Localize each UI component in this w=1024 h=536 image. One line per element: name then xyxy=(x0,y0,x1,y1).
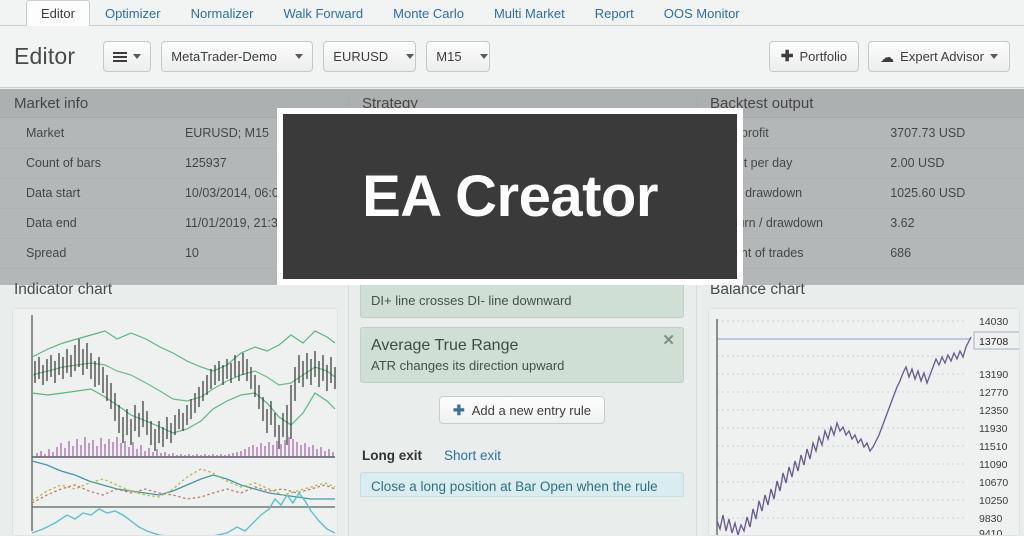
tab-label: Optimizer xyxy=(105,6,161,21)
balance-current-value: 13708 xyxy=(979,336,1008,348)
tab-optimizer[interactable]: Optimizer xyxy=(90,0,176,25)
tab-label: Report xyxy=(595,6,634,21)
table-row: Max drawdown 1025.60 USD xyxy=(696,178,1024,208)
y-tick-label: 12770 xyxy=(979,387,1008,399)
timeframe-select[interactable]: M15 xyxy=(426,41,490,72)
row-label: Market xyxy=(0,118,181,148)
broker-select[interactable]: MetaTrader-Demo xyxy=(161,41,313,72)
y-tick-label: 12350 xyxy=(979,405,1008,417)
add-entry-rule-wrap: ✚ Add a new entry rule xyxy=(360,396,684,424)
plus-icon: ✚ xyxy=(453,403,465,417)
main-menu-button[interactable] xyxy=(103,41,151,72)
close-icon[interactable]: ✕ xyxy=(662,333,675,348)
broker-select-value: MetaTrader-Demo xyxy=(171,49,295,64)
portfolio-button[interactable]: ✚ Portfolio xyxy=(769,41,859,72)
add-entry-rule-label: Add a new entry rule xyxy=(472,403,591,418)
table-row: Count of trades 686 xyxy=(696,238,1024,268)
row-value: 686 xyxy=(886,238,1024,268)
y-tick-label: 14030 xyxy=(979,316,1008,328)
tab-label: OOS Monitor xyxy=(664,6,740,21)
cloud-download-icon: ☁ xyxy=(880,50,894,64)
expert-advisor-button[interactable]: ☁ Expert Advisor xyxy=(868,41,1010,72)
tab-label: Normalizer xyxy=(191,6,254,21)
entry-rule-card[interactable]: ✕ Average True Range ATR changes its dir… xyxy=(360,327,684,383)
table-row: Net profit 3707.73 USD xyxy=(696,118,1024,148)
tab-oos-monitor[interactable]: OOS Monitor xyxy=(649,0,755,25)
y-tick-label: 9830 xyxy=(979,513,1003,525)
backtest-output-table: Net profit 3707.73 USD Profit per day 2.… xyxy=(696,118,1024,269)
tab-normalizer[interactable]: Normalizer xyxy=(176,0,269,25)
y-tick-label: 10670 xyxy=(979,477,1008,489)
portfolio-button-label: Portfolio xyxy=(799,49,847,64)
chevron-down-icon xyxy=(295,54,303,59)
editor-page: Editor Optimizer Normalizer Walk Forward… xyxy=(0,0,1024,536)
tab-multi-market[interactable]: Multi Market xyxy=(479,0,580,25)
right-column: Backtest output Net profit 3707.73 USD P… xyxy=(696,89,1024,536)
market-info-title: Market info xyxy=(14,95,88,112)
tab-label: Multi Market xyxy=(494,6,565,21)
tab-long-exit[interactable]: Long exit xyxy=(362,448,422,463)
symbol-select-value: EURUSD xyxy=(333,49,406,64)
row-label: Count of bars xyxy=(0,148,181,178)
y-tick-label: 11510 xyxy=(979,441,1008,453)
exit-rule-note: Close a long position at Bar Open when t… xyxy=(360,472,684,497)
entry-rule-condition: DI+ line crosses DI- line downward xyxy=(371,293,673,308)
chevron-down-icon xyxy=(480,54,488,59)
tab-short-exit[interactable]: Short exit xyxy=(444,448,501,463)
y-tick-label: 9410 xyxy=(979,528,1003,536)
toolbar-actions: ✚ Portfolio ☁ Expert Advisor xyxy=(769,41,1010,72)
exit-rule-note-text: Close a long position at Bar Open when t… xyxy=(371,479,658,494)
row-label: Data start xyxy=(0,178,181,208)
tab-walk-forward[interactable]: Walk Forward xyxy=(268,0,378,25)
chevron-down-icon xyxy=(406,54,414,59)
row-label: Spread xyxy=(0,238,181,268)
hamburger-icon xyxy=(113,52,127,62)
balance-chart-svg: 14030 13190 12770 12350 11930 11510 1109… xyxy=(709,309,1020,536)
backtest-output-header: Backtest output xyxy=(696,89,1024,118)
chevron-down-icon xyxy=(133,54,141,59)
y-tick-label: 11930 xyxy=(979,423,1008,435)
table-row: Profit per day 2.00 USD xyxy=(696,148,1024,178)
editor-toolbar: Editor MetaTrader-Demo EURUSD M15 ✚ Port… xyxy=(0,26,1024,88)
tab-editor[interactable]: Editor xyxy=(26,0,90,26)
tab-report[interactable]: Report xyxy=(580,0,649,25)
add-entry-rule-button[interactable]: ✚ Add a new entry rule xyxy=(439,396,605,424)
row-value: 1025.60 USD xyxy=(886,178,1024,208)
plus-icon: ✚ xyxy=(781,49,794,64)
balance-chart-title: Balance chart xyxy=(696,269,1024,308)
table-row: Return / drawdown 3.62 xyxy=(696,208,1024,238)
tab-monte-carlo[interactable]: Monte Carlo xyxy=(378,0,479,25)
y-tick-label: 13190 xyxy=(979,369,1008,381)
timeframe-select-value: M15 xyxy=(436,49,479,64)
tab-label: Editor xyxy=(41,6,75,21)
tab-label: Monte Carlo xyxy=(393,6,464,21)
row-value: 3707.73 USD xyxy=(886,118,1024,148)
chevron-down-icon xyxy=(990,54,998,59)
page-title: Editor xyxy=(14,43,75,70)
ea-creator-badge-text: EA Creator xyxy=(362,163,658,230)
row-value: 3.62 xyxy=(886,208,1024,238)
entry-rule-name: Average True Range xyxy=(371,336,673,356)
ea-creator-badge: EA Creator xyxy=(277,108,743,285)
y-tick-label: 11090 xyxy=(979,459,1008,471)
tab-label: Walk Forward xyxy=(283,6,363,21)
indicator-chart[interactable] xyxy=(12,308,338,536)
y-tick-label: 10250 xyxy=(979,495,1008,507)
main-tab-bar: Editor Optimizer Normalizer Walk Forward… xyxy=(0,0,1024,26)
expert-advisor-button-label: Expert Advisor xyxy=(900,49,984,64)
balance-chart[interactable]: 14030 13190 12770 12350 11930 11510 1109… xyxy=(708,308,1020,536)
exit-tab-group: Long exit Short exit xyxy=(362,448,684,463)
row-value: 2.00 USD xyxy=(886,148,1024,178)
row-label: Data end xyxy=(0,208,181,238)
entry-rule-condition: ATR changes its direction upward xyxy=(371,358,673,373)
indicator-chart-svg xyxy=(13,309,338,536)
symbol-select[interactable]: EURUSD xyxy=(323,41,416,72)
